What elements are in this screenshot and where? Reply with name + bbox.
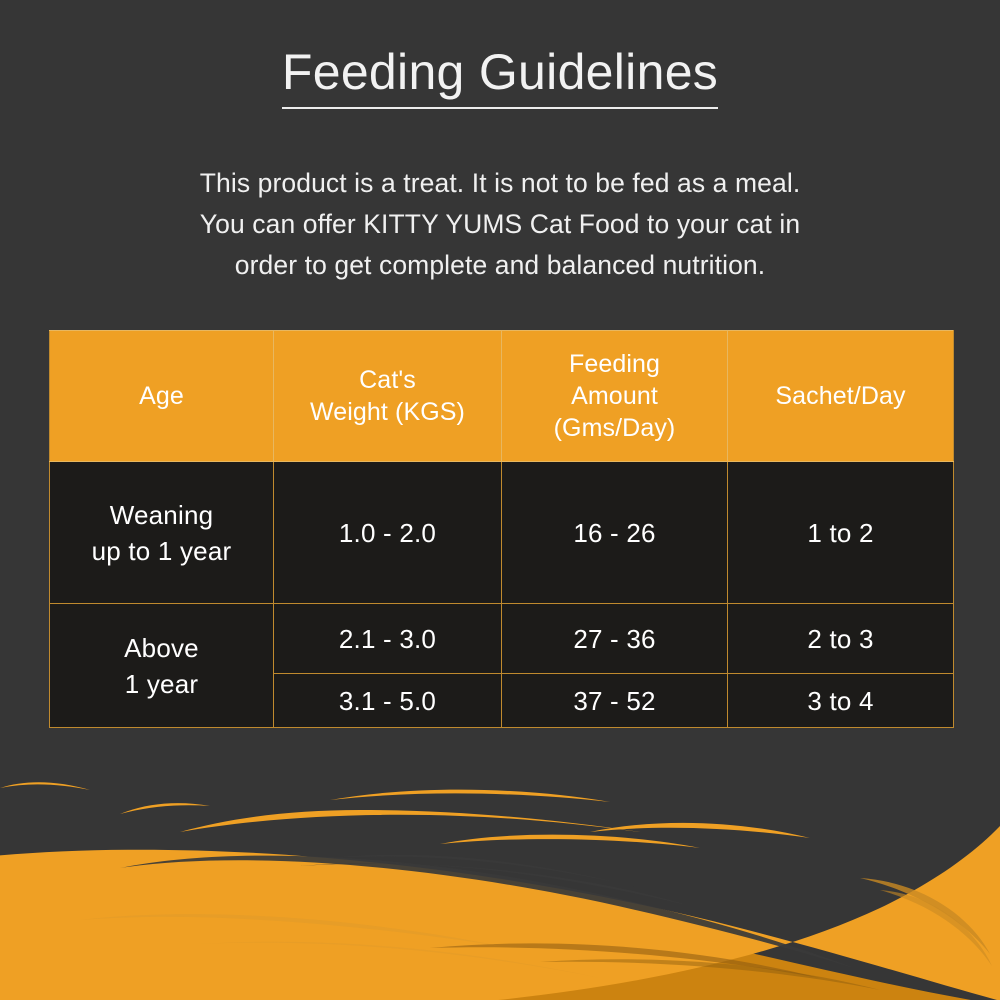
intro-paragraph: This product is a treat. It is not to be… [100,163,900,286]
cell-weight-row-2: 2.1 - 3.0 [274,604,502,674]
page-title: Feeding Guidelines [282,44,718,109]
cell-age-weaning: Weaning up to 1 year [50,462,274,604]
column-header-cats-weight: Cat's Weight (KGS) [274,331,502,462]
table-row: Above 1 year 2.1 - 3.0 27 - 36 2 to 3 [50,604,954,674]
column-header-feeding-amount: Feeding Amount (Gms/Day) [502,331,728,462]
cell-amount-row-2: 27 - 36 [502,604,728,674]
column-header-age: Age [50,331,274,462]
intro-line-3: order to get complete and balanced nutri… [100,245,900,286]
cell-age-above-one-year: Above 1 year [50,604,274,728]
table-header-row: Age Cat's Weight (KGS) Feeding Amount (G… [50,331,954,462]
orange-brush-stroke-swoosh-icon [0,740,1000,1000]
cell-sachet-row-1: 1 to 2 [728,462,954,604]
table-body: Weaning up to 1 year 1.0 - 2.0 16 - 26 1… [50,462,954,728]
cell-sachet-row-3: 3 to 4 [728,674,954,728]
table-row: Weaning up to 1 year 1.0 - 2.0 16 - 26 1… [50,462,954,604]
table-header: Age Cat's Weight (KGS) Feeding Amount (G… [50,331,954,462]
column-header-age-line-1: Age [51,380,272,412]
cell-amount-row-1: 16 - 26 [502,462,728,604]
cell-age-above-line-2: 1 year [51,666,272,702]
cell-weight-row-3: 3.1 - 5.0 [274,674,502,728]
cell-weight-row-1: 1.0 - 2.0 [274,462,502,604]
intro-line-1: This product is a treat. It is not to be… [100,163,900,204]
column-header-cats-weight-line-1: Cat's [275,364,500,396]
column-header-sachet-per-day-line-1: Sachet/Day [729,380,952,412]
feeding-guidelines-table: Age Cat's Weight (KGS) Feeding Amount (G… [49,330,954,728]
page-title-container: Feeding Guidelines [0,44,1000,109]
cell-amount-row-3: 37 - 52 [502,674,728,728]
column-header-feeding-amount-line-2: Amount [503,380,726,412]
cell-age-weaning-line-2: up to 1 year [51,533,272,569]
cell-age-above-line-1: Above [51,630,272,666]
intro-line-2: You can offer KITTY YUMS Cat Food to you… [100,204,900,245]
column-header-cats-weight-line-2: Weight (KGS) [275,396,500,428]
column-header-feeding-amount-line-3: (Gms/Day) [503,412,726,444]
column-header-feeding-amount-line-1: Feeding [503,348,726,380]
feeding-guidelines-page: Feeding Guidelines This product is a tre… [0,0,1000,1000]
cell-age-weaning-line-1: Weaning [51,497,272,533]
feeding-table-container: Age Cat's Weight (KGS) Feeding Amount (G… [49,330,953,714]
cell-sachet-row-2: 2 to 3 [728,604,954,674]
column-header-sachet-per-day: Sachet/Day [728,331,954,462]
brush-decoration-layer [0,740,1000,1000]
